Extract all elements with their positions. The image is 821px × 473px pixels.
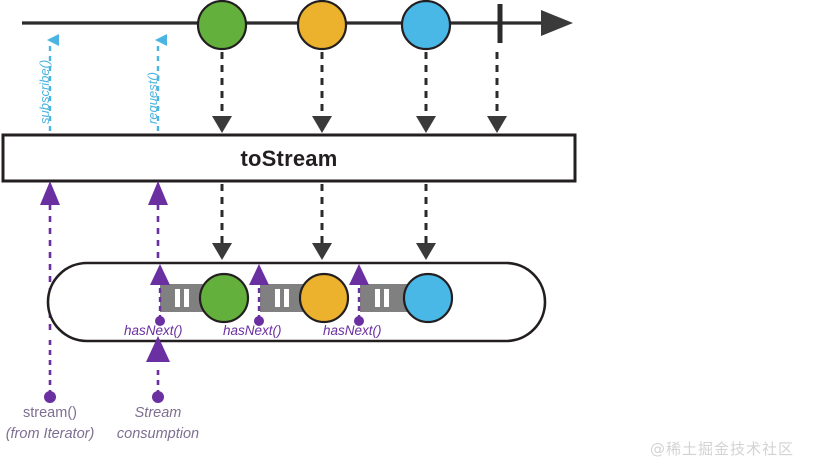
stream-annotation-line1: stream() bbox=[0, 406, 100, 421]
subscribe-label: subscribe() bbox=[38, 60, 51, 124]
delivery-arrows-into-stream bbox=[212, 184, 436, 260]
stream-annotation-dot-icon bbox=[44, 391, 56, 403]
pause-bar-3a-icon bbox=[375, 289, 380, 307]
marble-blue-icon[interactable] bbox=[402, 1, 450, 49]
pull-arrow-1-icon bbox=[40, 181, 60, 205]
stream-marble-yellow-icon[interactable] bbox=[300, 274, 348, 322]
stream-annotation-line2: (from Iterator) bbox=[0, 427, 100, 442]
has-next-label-1: hasNext() bbox=[124, 324, 183, 338]
stream-marble-blue-icon[interactable] bbox=[404, 274, 452, 322]
pause-bar-1a-icon bbox=[175, 289, 180, 307]
arrowhead-1-icon bbox=[212, 116, 232, 133]
stream-marbles-group bbox=[200, 274, 452, 322]
site-watermark: @稀土掘金技术社区 bbox=[650, 438, 794, 459]
consumption-annotation-dot-icon bbox=[152, 391, 164, 403]
arrowhead-4-icon bbox=[487, 116, 507, 133]
request-label: request() bbox=[146, 72, 159, 124]
arrowhead-3-icon bbox=[416, 116, 436, 133]
emission-arrows-into-operator bbox=[222, 52, 497, 122]
pause-bar-3b-icon bbox=[384, 289, 389, 307]
diagram-vector-layer bbox=[0, 0, 821, 473]
delivery-arrowhead-green-icon bbox=[212, 243, 232, 260]
arrowhead-2-icon bbox=[312, 116, 332, 133]
has-next-label-2: hasNext() bbox=[223, 324, 282, 338]
delivery-arrowhead-yellow-icon bbox=[312, 243, 332, 260]
timeline-arrow-head-icon bbox=[541, 10, 573, 36]
consumption-annotation-line2: consumption bbox=[108, 427, 208, 442]
consumption-annotation-line1: Stream bbox=[108, 406, 208, 421]
pull-arrow-2-icon bbox=[148, 181, 168, 205]
marble-diagram-canvas: subscribe() request() toStream hasNext()… bbox=[0, 0, 821, 473]
pause-bar-2b-icon bbox=[284, 289, 289, 307]
source-marbles-group bbox=[198, 1, 450, 49]
pause-bar-2a-icon bbox=[275, 289, 280, 307]
delivery-arrowhead-blue-icon bbox=[416, 243, 436, 260]
operator-box-label: toStream bbox=[0, 146, 578, 172]
marble-yellow-icon[interactable] bbox=[298, 1, 346, 49]
marble-green-icon[interactable] bbox=[198, 1, 246, 49]
emission-arrow-heads-top bbox=[212, 116, 507, 133]
stream-marble-green-icon[interactable] bbox=[200, 274, 248, 322]
has-next-label-3: hasNext() bbox=[323, 324, 382, 338]
pause-blocks-group bbox=[160, 284, 410, 312]
pause-bar-1b-icon bbox=[184, 289, 189, 307]
bottom-annotation-arrows bbox=[44, 336, 170, 403]
backpressure-signal-arrows bbox=[50, 40, 158, 131]
